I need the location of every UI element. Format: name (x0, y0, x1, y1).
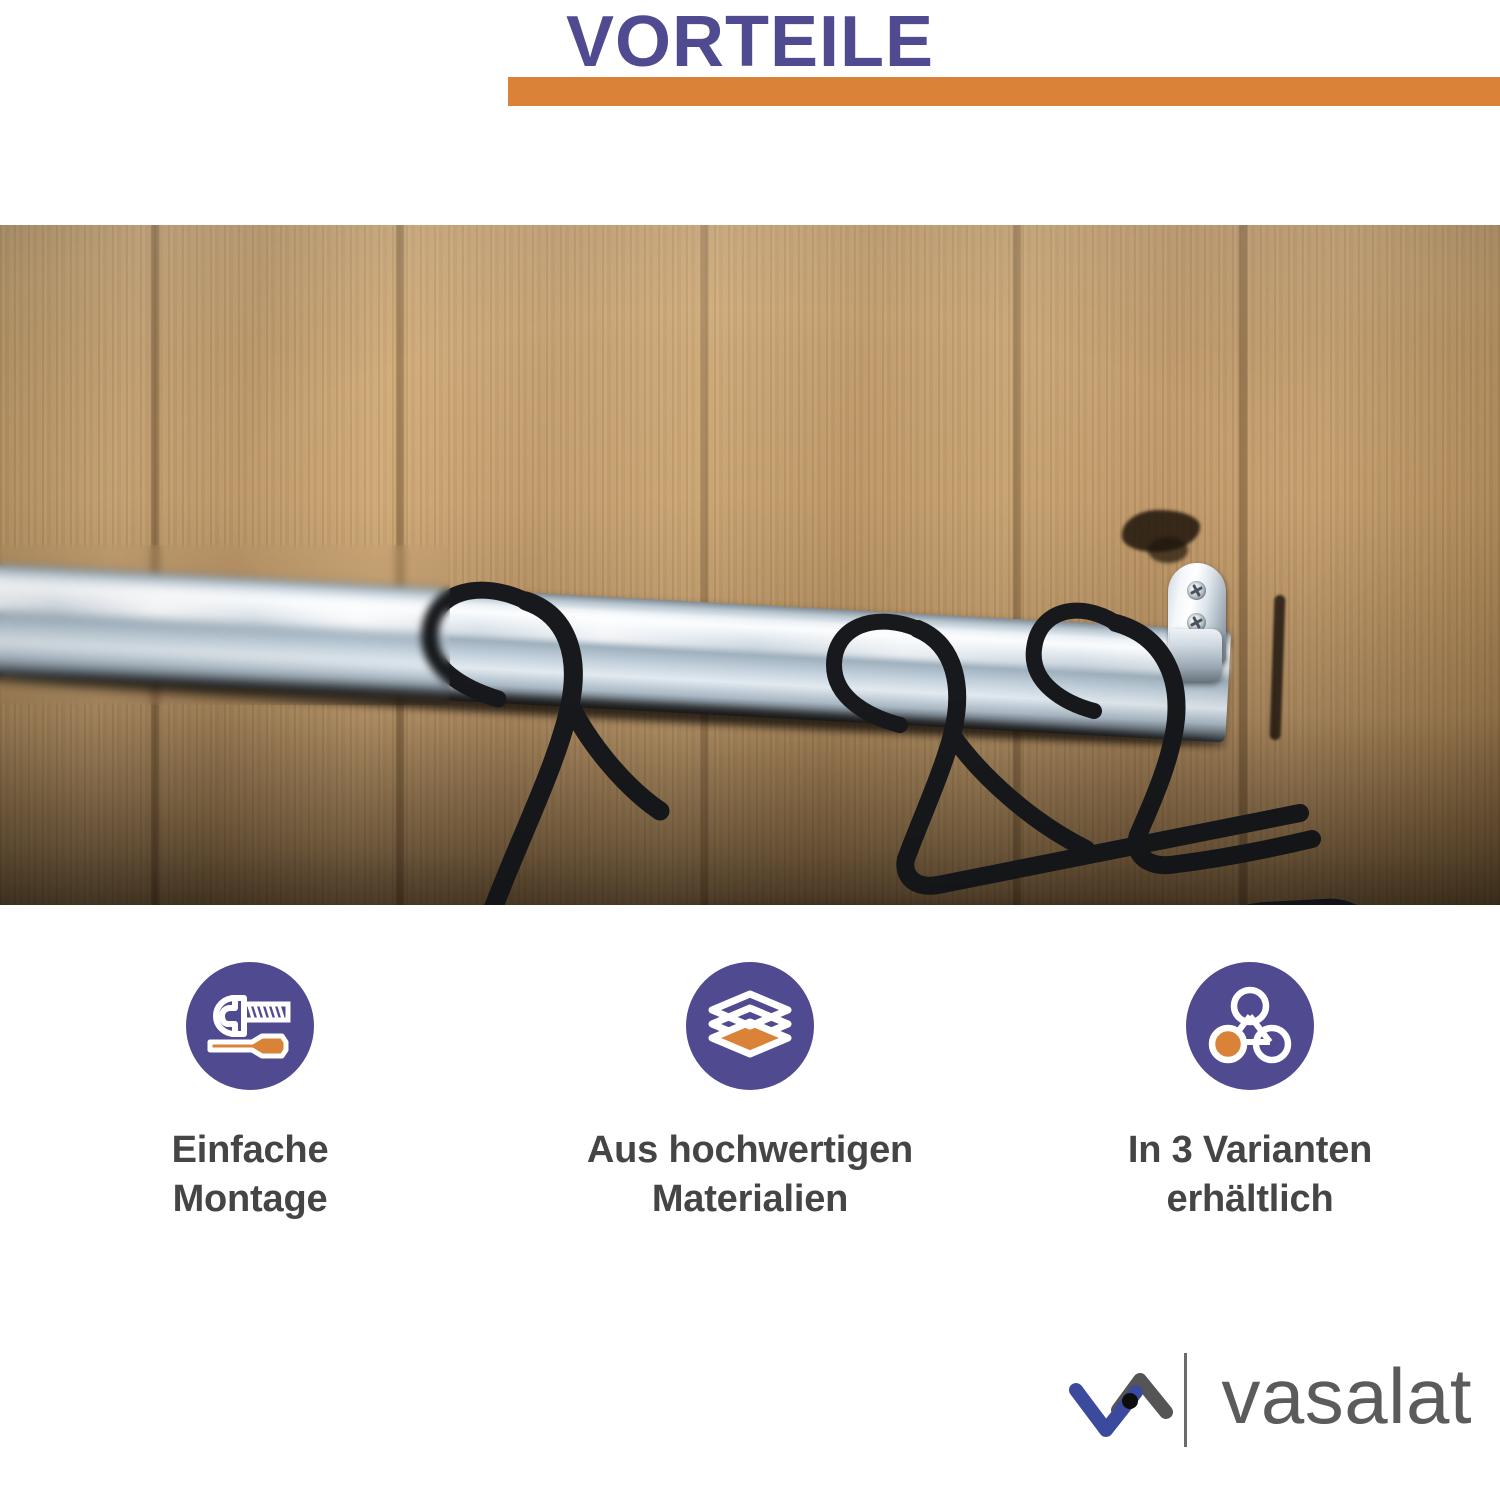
feature-label-three-variants: In 3 Varianten erhältlich (1128, 1126, 1372, 1225)
feature-label-line2: Materialien (652, 1178, 848, 1220)
feature-label-quality-materials: Aus hochwertigen Materialien (587, 1126, 913, 1225)
page-header: VORTEILE (0, 0, 1500, 200)
logo-divider (1184, 1353, 1187, 1447)
brand-logo: vasalat (1066, 1352, 1472, 1448)
stacked-layers-icon (686, 962, 814, 1090)
feature-label-line1: Einfache (172, 1129, 329, 1171)
feature-item-easy-assembly: Einfache Montage (0, 940, 500, 1300)
wrench-screwdriver-icon (186, 962, 314, 1090)
feature-label-easy-assembly: Einfache Montage (172, 1126, 329, 1225)
feature-item-three-variants: In 3 Varianten erhältlich (1000, 940, 1500, 1300)
feature-label-line1: In 3 Varianten (1128, 1129, 1372, 1171)
three-connected-circles-icon (1186, 962, 1314, 1090)
feature-label-line1: Aus hochwertigen (587, 1129, 913, 1171)
feature-label-line2: Montage (173, 1178, 328, 1220)
product-photo (0, 225, 1500, 905)
vasalat-logo-mark (1066, 1354, 1178, 1446)
wall-knot-mark-small (1148, 537, 1188, 563)
vasalat-wordmark: vasalat (1221, 1357, 1472, 1443)
page-title: VORTEILE (0, 6, 1500, 78)
clothes-hanger-right (1020, 577, 1320, 905)
feature-label-line2: erhältlich (1167, 1178, 1334, 1220)
feature-list: Einfache Montage Aus hochwertigen Materi… (0, 940, 1500, 1300)
feature-item-quality-materials: Aus hochwertigen Materialien (500, 940, 1000, 1300)
